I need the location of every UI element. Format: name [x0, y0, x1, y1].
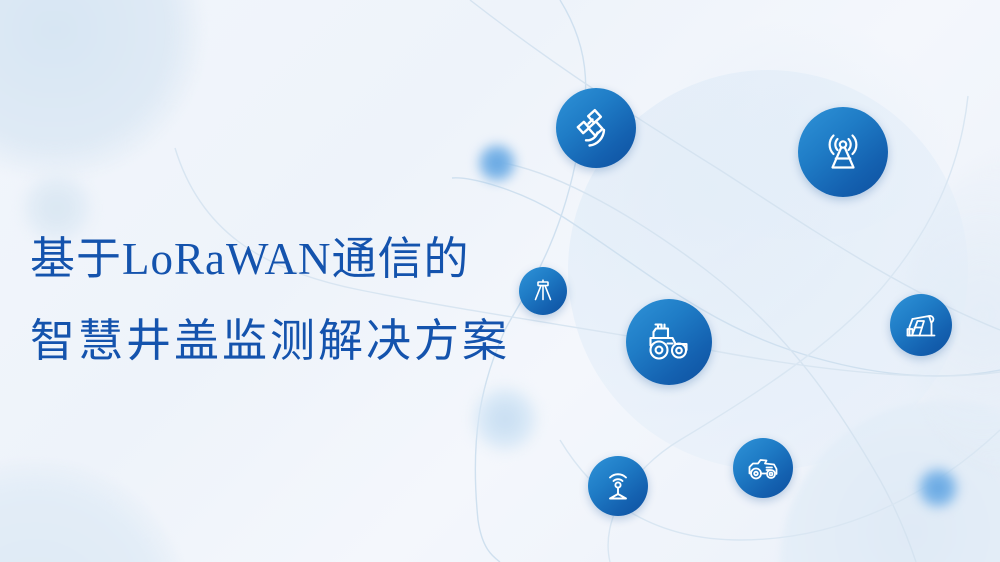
- satellite-dish-icon: [573, 105, 619, 151]
- slide-canvas: 基于LoRaWAN通信的 智慧井盖监测解决方案: [0, 0, 1000, 562]
- title-line-1: 基于LoRaWAN通信的: [30, 228, 570, 290]
- oil-pumpjack-icon: [903, 307, 939, 343]
- accent-dot-lower: [916, 466, 960, 510]
- soft-highlight-sphere: [648, 20, 948, 240]
- title-line-2: 智慧井盖监测解决方案: [30, 310, 570, 372]
- tractor-icon: [644, 317, 694, 367]
- node-tractor[interactable]: [626, 299, 712, 385]
- slide-title: 基于LoRaWAN通信的 智慧井盖监测解决方案: [30, 228, 570, 372]
- node-oil-pumpjack[interactable]: [890, 294, 952, 356]
- wireless-sensor-icon: [600, 468, 636, 504]
- node-satellite[interactable]: [556, 88, 636, 168]
- node-radio-tower[interactable]: [798, 107, 888, 197]
- blob-bottom-right: [780, 400, 1000, 562]
- blob-top-left: [0, 0, 205, 180]
- node-wireless-sensor[interactable]: [588, 456, 648, 516]
- radio-tower-icon: [817, 126, 869, 178]
- blob-bottom-left: [0, 460, 190, 562]
- accent-dot-upper: [476, 142, 518, 184]
- soft-dot-center: [471, 385, 539, 453]
- mower-vehicle-icon: [745, 450, 781, 486]
- node-mower-vehicle[interactable]: [733, 438, 793, 498]
